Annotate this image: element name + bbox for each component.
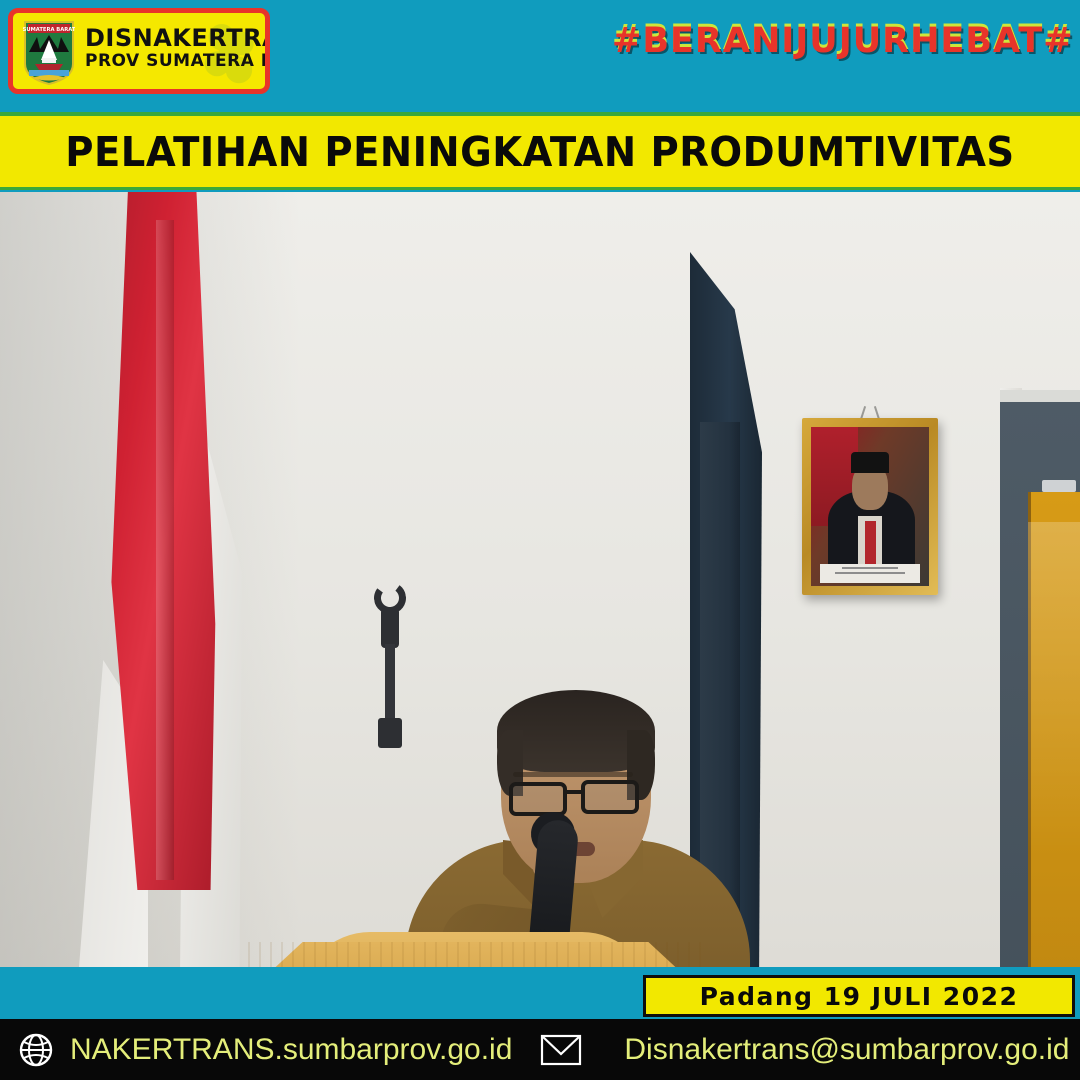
- podium-wood-grain: [248, 942, 703, 967]
- speaker-eyeglass-right: [581, 780, 639, 814]
- wall-panel-cap: [1000, 390, 1080, 402]
- mic-stand-pole: [385, 644, 395, 724]
- speaker-person: [405, 690, 750, 967]
- logo-text-block: DISNAKERTRANS PROV SUMATERA BARAT: [85, 25, 267, 71]
- contact-footer: NAKERTRANS.sumbarprov.go.id Disnakertran…: [0, 1019, 1080, 1080]
- svg-text:SUMATERA BARAT: SUMATERA BARAT: [23, 27, 75, 33]
- title-banner: PELATIHAN PENINGKATAN PRODUMTIVITAS: [0, 112, 1080, 190]
- mic-stand-neck: [381, 608, 399, 648]
- portrait-peci-cap: [851, 452, 889, 473]
- envelope-icon: [540, 1034, 582, 1066]
- email-address[interactable]: Disnakertrans@sumbarprov.go.id: [624, 1033, 1069, 1067]
- board-clip-icon: [1042, 480, 1076, 492]
- campaign-hashtag: #BERANIJUJURHEBAT#: [612, 18, 1062, 64]
- board-glare: [1028, 522, 1080, 852]
- portrait-nameplate: [820, 564, 919, 583]
- framed-portrait: [802, 418, 938, 595]
- globe-icon: [18, 1032, 54, 1068]
- event-date: Padang 19 JULI 2022: [700, 982, 1019, 1011]
- speaker-eyeglass-bridge: [565, 790, 583, 794]
- logo-title-line2: PROV SUMATERA BARAT: [85, 51, 267, 71]
- speaker-brow: [513, 772, 633, 777]
- flag-fold-shadow: [156, 220, 174, 880]
- organization-logo-box: SUMATERA BARAT DISNAKERTRANS PROV SUMATE…: [8, 8, 270, 94]
- date-banner: Padang 19 JULI 2022: [643, 975, 1075, 1017]
- header-bar: SUMATERA BARAT DISNAKERTRANS PROV SUMATE…: [0, 0, 1080, 112]
- poster-root: SUMATERA BARAT DISNAKERTRANS PROV SUMATE…: [0, 0, 1080, 1080]
- wooden-podium: [248, 932, 703, 967]
- portrait-tie: [865, 521, 876, 564]
- mic-stand-base: [378, 718, 402, 748]
- page-title: PELATIHAN PENINGKATAN PRODUMTIVITAS: [65, 128, 1014, 176]
- portrait-inner: [811, 427, 929, 586]
- event-photo: [0, 192, 1080, 967]
- indonesian-flag: [60, 192, 245, 967]
- speaker-eyeglass-left: [509, 782, 567, 816]
- west-sumatra-coat-of-arms-icon: SUMATERA BARAT: [23, 20, 75, 86]
- website-url[interactable]: NAKERTRANS.sumbarprov.go.id: [70, 1033, 512, 1067]
- logo-title-line1: DISNAKERTRANS: [85, 25, 267, 51]
